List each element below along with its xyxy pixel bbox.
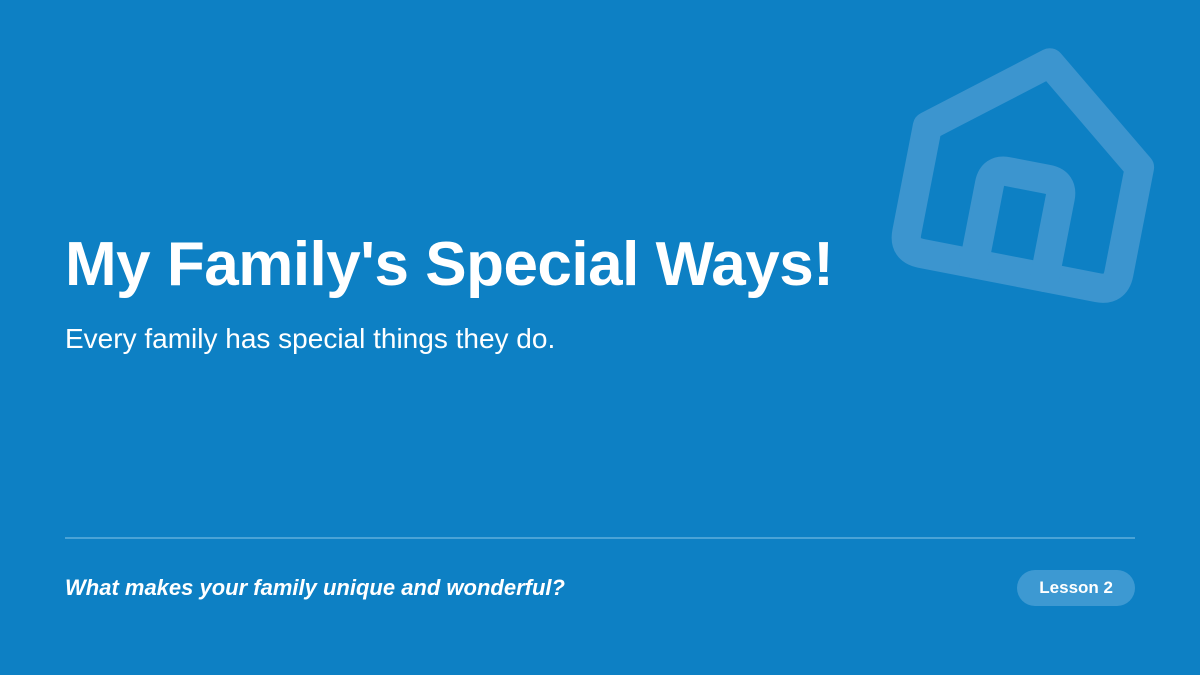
footer-divider	[65, 537, 1135, 539]
page-title: My Family's Special Ways!	[65, 232, 1135, 297]
slide-canvas: My Family's Special Ways! Every family h…	[0, 0, 1200, 675]
footer-question: What makes your family unique and wonder…	[65, 575, 565, 601]
slide-footer: What makes your family unique and wonder…	[65, 565, 1135, 611]
slide-subtitle: Every family has special things they do.	[65, 321, 1135, 357]
slide-content: My Family's Special Ways! Every family h…	[65, 232, 1135, 357]
lesson-badge: Lesson 2	[1017, 570, 1135, 606]
